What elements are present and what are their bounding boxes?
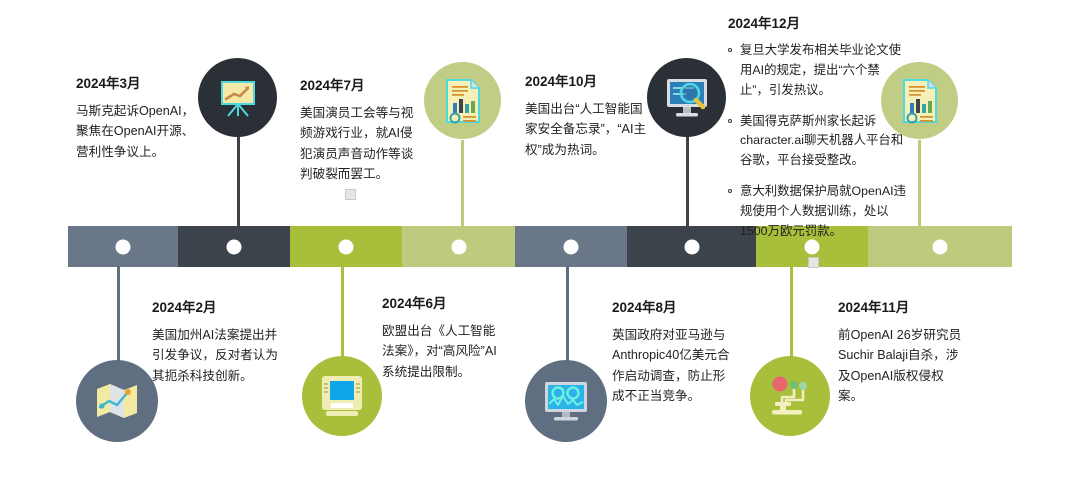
event-month-label: 2024年3月 — [76, 72, 201, 92]
stem-2024-02 — [117, 266, 120, 366]
event-block-2024-11: 2024年11月 前OpenAI 26岁研究员Suchir Balaji自杀，涉… — [838, 296, 966, 407]
monitor-robot-icon — [541, 378, 591, 424]
stem-2024-03 — [237, 132, 240, 228]
timeline-node-dot — [116, 239, 131, 254]
event-description: 美国出台“人工智能国家安全备忘录”，“AI主权”成为热词。 — [525, 99, 647, 160]
timeline-node-dot — [339, 239, 354, 254]
monitor-magnifier-icon — [662, 75, 712, 121]
event-bullet-item: 复旦大学发布相关毕业论文使用AI的规定，提出“六个禁止”，引发热议。 — [728, 41, 906, 101]
event-block-2024-10: 2024年10月 美国出台“人工智能国家安全备忘录”，“AI主权”成为热词。 — [525, 70, 647, 160]
event-block-2024-08: 2024年8月 英国政府对亚马逊与Anthropic40亿美元合作启动调查，防止… — [612, 296, 736, 407]
stem-2024-11 — [790, 266, 793, 362]
easel-chart-icon — [215, 75, 261, 121]
event-month-label: 2024年12月 — [728, 12, 906, 32]
icon-circle-2024-06[interactable] — [302, 356, 382, 436]
timeline-segment-2 — [178, 226, 290, 267]
timeline-node-dot — [564, 239, 579, 254]
event-block-2024-03: 2024年3月 马斯克起诉OpenAI，聚焦在OpenAI开源、营利性争议上。 — [76, 72, 201, 162]
stem-2024-12 — [918, 140, 921, 228]
stem-2024-10 — [686, 132, 689, 228]
document-report-icon — [442, 77, 484, 125]
event-month-label: 2024年8月 — [612, 296, 736, 316]
timeline-segment-3 — [290, 226, 402, 267]
icon-circle-2024-08[interactable] — [525, 360, 607, 442]
icon-circle-2024-02[interactable] — [76, 360, 158, 442]
stem-2024-06 — [341, 266, 344, 362]
placeholder-marker-wrap — [728, 253, 898, 273]
event-block-2024-07: 2024年7月 美国演员工会等与视频游戏行业，就AI侵犯演员声音动作等谈判破裂而… — [300, 74, 422, 205]
timeline-infographic: 2024年3月 马斯克起诉OpenAI，聚焦在OpenAI开源、营利性争议上。 … — [0, 0, 1080, 488]
event-block-2024-12: 2024年12月 复旦大学发布相关毕业论文使用AI的规定，提出“六个禁止”，引发… — [728, 12, 906, 273]
timeline-segment-1 — [68, 226, 178, 267]
event-bullet-item: 意大利数据保护局就OpenAI违规使用个人数据训练，处以1500万欧元罚款。 — [728, 182, 906, 242]
placeholder-glyph-icon — [345, 189, 356, 200]
event-block-2024-06: 2024年6月 欧盟出台《人工智能法案》，对“高风险”AI系统提出限制。 — [382, 292, 504, 382]
event-description: 美国演员工会等与视频游戏行业，就AI侵犯演员声音动作等谈判破裂而罢工。 — [300, 103, 422, 185]
event-month-label: 2024年6月 — [382, 292, 504, 312]
network-node-icon — [766, 373, 814, 419]
event-month-label: 2024年7月 — [300, 74, 422, 94]
icon-circle-2024-03[interactable] — [198, 58, 277, 137]
timeline-node-dot — [451, 239, 466, 254]
placeholder-marker-wrap — [300, 185, 400, 205]
timeline-node-dot — [227, 239, 242, 254]
timeline-segment-5 — [515, 226, 627, 267]
event-month-label: 2024年10月 — [525, 70, 647, 90]
stem-2024-08 — [566, 266, 569, 366]
timeline-node-dot — [933, 239, 948, 254]
event-description: 马斯克起诉OpenAI，聚焦在OpenAI开源、营利性争议上。 — [76, 101, 201, 162]
stem-2024-07 — [461, 140, 464, 228]
icon-circle-2024-07[interactable] — [424, 62, 501, 139]
event-description: 美国加州AI法案提出并引发争议，反对者认为其扼杀科技创新。 — [152, 325, 280, 386]
timeline-segment-4 — [402, 226, 515, 267]
timeline-node-dot — [684, 239, 699, 254]
event-month-label: 2024年2月 — [152, 296, 280, 316]
atm-kiosk-icon — [318, 373, 366, 419]
folded-map-icon — [93, 379, 141, 423]
icon-circle-2024-10[interactable] — [647, 58, 726, 137]
event-description: 英国政府对亚马逊与Anthropic40亿美元合作启动调查，防止形成不正当竞争。 — [612, 325, 736, 407]
event-description: 前OpenAI 26岁研究员Suchir Balaji自杀，涉及OpenAI版权… — [838, 325, 966, 407]
event-block-2024-02: 2024年2月 美国加州AI法案提出并引发争议，反对者认为其扼杀科技创新。 — [152, 296, 280, 386]
event-bullet-list: 复旦大学发布相关毕业论文使用AI的规定，提出“六个禁止”，引发热议。 美国得克萨… — [728, 41, 906, 242]
icon-circle-2024-11[interactable] — [750, 356, 830, 436]
event-description: 欧盟出台《人工智能法案》，对“高风险”AI系统提出限制。 — [382, 321, 504, 382]
placeholder-glyph-icon — [808, 257, 819, 268]
event-month-label: 2024年11月 — [838, 296, 966, 316]
event-bullet-item: 美国得克萨斯州家长起诉character.ai聊天机器人平台和谷歌，平台接受整改… — [728, 112, 906, 172]
